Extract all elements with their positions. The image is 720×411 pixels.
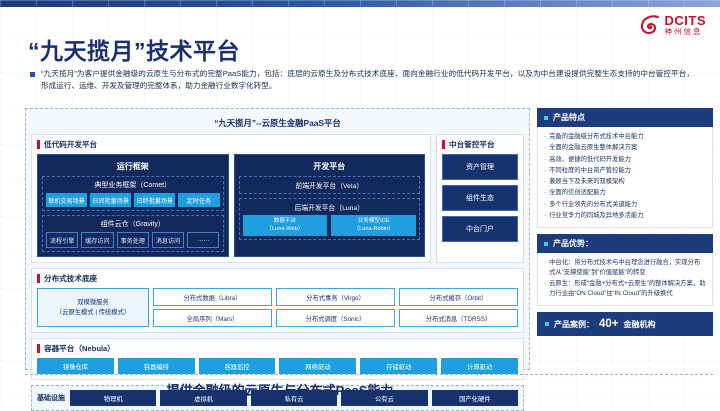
base-item[interactable]: 分布式消息（TDRSS） (399, 309, 518, 327)
dot-icon: · (544, 188, 546, 198)
feature-item: ·兼顾当下及未来的双模架构 (544, 177, 706, 187)
runtime-title: 运行框架 (42, 159, 224, 176)
features-body: ·完备的金融级分布式技术中台能力 ·全面的金融云原生整体解决方案 ·高效、便捷的… (537, 127, 713, 228)
mgmt-item[interactable]: 组件生态 (442, 185, 518, 211)
footer-text: 提供金融级的云原生与分布式PaaS能力 (0, 380, 560, 399)
intro-paragraph: “九天揽月”为客户提供金融级的云原生与分布式的完整PaaS能力，包括：底层的云原… (30, 68, 694, 92)
diagram-title: “九天揽月”--云原生金融PaaS平台 (31, 114, 524, 134)
lowcode-section-title: 低代码开发平台 (44, 139, 97, 150)
container-section-head: 容器平台（Nebula） (37, 343, 518, 354)
right-column: 产品特点 ·完备的金融级分布式技术中台能力 ·全面的金融云原生整体解决方案 ·高… (537, 108, 713, 336)
feature-text: 兼顾当下及未来的双模架构 (549, 177, 706, 187)
square-bullet-icon (544, 116, 548, 120)
feature-item: ·多个行业领先的分布式关键能力 (544, 200, 706, 210)
page-title: “九天揽月”技术平台 (28, 32, 240, 66)
comet-title: 典型业务框架（Comet） (46, 180, 220, 193)
dot-icon: · (544, 279, 546, 299)
base-item[interactable]: 分布式事务（Virgo） (276, 288, 395, 306)
feature-text: 不同粒度的中台资产管控能力 (549, 166, 706, 176)
container-item[interactable]: 容器编排 (118, 358, 195, 374)
brand-logo: DCITS 神州信息 (639, 14, 707, 36)
gravity-subgroup: 组件云仓（Gravity） 流程引擎 缓存访问 事务处理 消息访问 …… (42, 215, 224, 252)
gravity-title: 组件云仓（Gravity） (46, 219, 220, 232)
container-item[interactable]: 网络驱动 (279, 358, 356, 374)
section-marker-icon (37, 344, 40, 353)
square-bullet-icon (544, 242, 548, 246)
dot-icon: · (544, 143, 546, 153)
comet-subgroup: 典型业务框架（Comet） 联机交易场景 日间批量场景 日终批量场景 定时任务 (42, 176, 224, 211)
base-item[interactable]: 全局序列（Mars） (153, 309, 272, 327)
brand-name: DCITS (665, 14, 707, 27)
square-bullet-icon (545, 322, 549, 326)
feature-item: ·高效、便捷的低代码开发能力 (544, 155, 706, 165)
dual-mode-microservice[interactable]: 双模微服务 （云原生模式 | 传统模式） (37, 288, 149, 327)
features-title: 产品特点 (553, 112, 585, 123)
case-label: 产品案例： (554, 319, 594, 330)
section-marker-icon (442, 140, 445, 149)
lowcode-platform-panel: 低代码开发平台 运行框架 典型业务框架（Comet） 联机交易场景 日间批量场景… (31, 134, 431, 263)
feature-item: ·全面的信创适配能力 (544, 188, 706, 198)
lowcode-section-head: 低代码开发平台 (37, 139, 425, 150)
comet-item[interactable]: 日终批量场景 (134, 193, 175, 207)
dot-icon: · (544, 200, 546, 210)
base-column: 分布式缓存（Orbit） 分布式消息（TDRSS） (399, 288, 518, 327)
container-item[interactable]: 镜像仓库 (37, 358, 114, 374)
gravity-item[interactable]: 流程引擎 (46, 232, 78, 248)
slide-root: DCITS 神州信息 “九天揽月”技术平台 “九天揽月”为客户提供金融级的云原生… (0, 0, 720, 405)
advantage-text: 云原生：形成“金融+分布式+云原生”的整体解决方案，助力行业由“ON Cloud… (549, 279, 706, 299)
mgmt-item[interactable]: 中台门户 (442, 216, 518, 242)
feature-text: 高效、便捷的低代码开发能力 (549, 155, 706, 165)
feature-item: ·不同粒度的中台资产管控能力 (544, 166, 706, 176)
feature-text: 多个行业领先的分布式关键能力 (549, 200, 706, 210)
section-marker-icon (37, 274, 40, 283)
dev-title: 开发平台 (239, 159, 421, 176)
gravity-item[interactable]: 消息访问 (152, 232, 184, 248)
dot-icon: · (544, 155, 546, 165)
distributed-base-panel: 分布式技术底座 双模微服务 （云原生模式 | 传统模式） 分布式数据（Libra… (31, 268, 524, 333)
comet-item[interactable]: 联机交易场景 (46, 193, 87, 207)
base-section-head: 分布式技术底座 (37, 273, 518, 284)
mgmt-item[interactable]: 资产管理 (442, 154, 518, 180)
backend-item[interactable]: 业务模型IDE （Luna-Robin） (331, 215, 416, 236)
feature-item: ·行业竞争力的同城及异地多活能力 (544, 211, 706, 221)
container-item[interactable]: 计算驱动 (441, 358, 518, 374)
container-section-title: 容器平台（Nebula） (44, 343, 115, 354)
feature-text: 完备的金融级分布式技术中台能力 (549, 132, 706, 142)
square-bullet-icon (30, 72, 35, 77)
dev-platform-group: 开发平台 前端开发平台（Vela） 后端开发平台（Luna） 数据平台 （Lun… (234, 154, 426, 257)
feature-text: 全面的金融云原生整体解决方案 (549, 143, 706, 153)
feature-item: ·完备的金融级分布式技术中台能力 (544, 132, 706, 142)
feature-item: ·全面的金融云原生整体解决方案 (544, 143, 706, 153)
brand-sub: 神州信息 (665, 28, 707, 36)
gravity-item[interactable]: 事务处理 (117, 232, 149, 248)
feature-text: 全面的信创适配能力 (549, 188, 706, 198)
dot-icon: · (544, 166, 546, 176)
advantages-title: 产品优势： (553, 238, 593, 249)
dcits-swirl-icon (639, 14, 661, 36)
case-panel: 产品案例： 40+ 金融机构 (537, 312, 713, 336)
mgmt-section-head: 中台管控平台 (442, 139, 518, 150)
comet-item[interactable]: 定时任务 (178, 193, 219, 207)
backend-item[interactable]: 数据平台 （Luna-Web） (243, 215, 328, 236)
features-panel: 产品特点 ·完备的金融级分布式技术中台能力 ·全面的金融云原生整体解决方案 ·高… (537, 108, 713, 228)
footer-divider (25, 374, 713, 375)
base-item[interactable]: 分布式调度（Sonic） (276, 309, 395, 327)
backend-platform-box: 后端开发平台（Luna） 数据平台 （Luna-Web） 业务模型IDE （Lu… (239, 198, 421, 240)
advantage-item: ·中台化：将分布式技术与中台理念进行融合，实现分布式从“支撑使能”到“价值赋能”… (544, 258, 706, 278)
top-accent-bar (0, 0, 720, 7)
mgmt-platform-panel: 中台管控平台 资产管理 组件生态 中台门户 (436, 134, 524, 263)
backend-platform-label: 后端开发平台（Luna） (295, 205, 365, 212)
intro-text: “九天揽月”为客户提供金融级的云原生与分布式的完整PaaS能力，包括：底层的云原… (41, 68, 694, 92)
mgmt-section-title: 中台管控平台 (449, 139, 495, 150)
base-section-title: 分布式技术底座 (44, 273, 97, 284)
advantages-body: ·中台化：将分布式技术与中台理念进行融合，实现分布式从“支撑使能”到“价值赋能”… (537, 253, 713, 306)
base-item[interactable]: 分布式数据（Libra） (153, 288, 272, 306)
gravity-item[interactable]: 缓存访问 (81, 232, 113, 248)
dot-icon: · (544, 211, 546, 221)
runtime-framework-group: 运行框架 典型业务框架（Comet） 联机交易场景 日间批量场景 日终批量场景 … (37, 154, 229, 257)
advantage-item: ·云原生：形成“金融+分布式+云原生”的整体解决方案，助力行业由“ON Clou… (544, 279, 706, 299)
dot-icon: · (544, 258, 546, 278)
feature-text: 行业竞争力的同城及异地多活能力 (549, 211, 706, 221)
case-unit: 金融机构 (624, 319, 656, 330)
container-item[interactable]: 容器监控 (199, 358, 276, 374)
comet-item[interactable]: 日间批量场景 (90, 193, 131, 207)
dot-icon: · (544, 177, 546, 187)
base-column: 分布式数据（Libra） 全局序列（Mars） (153, 288, 272, 327)
base-item[interactable]: 分布式缓存（Orbit） (399, 288, 518, 306)
dot-icon: · (544, 132, 546, 142)
gravity-item[interactable]: …… (187, 232, 219, 248)
architecture-diagram: “九天揽月”--云原生金融PaaS平台 低代码开发平台 运行框架 典型业务框架（… (25, 108, 530, 370)
frontend-platform[interactable]: 前端开发平台（Vela） (239, 176, 421, 194)
features-header: 产品特点 (537, 108, 713, 127)
container-item[interactable]: 存储驱动 (360, 358, 437, 374)
section-marker-icon (37, 140, 40, 149)
advantages-panel: 产品优势： ·中台化：将分布式技术与中台理念进行融合，实现分布式从“支撑使能”到… (537, 234, 713, 306)
advantage-text: 中台化：将分布式技术与中台理念进行融合，实现分布式从“支撑使能”到“价值赋能”的… (549, 258, 706, 278)
advantages-header: 产品优势： (537, 234, 713, 253)
case-number: 40+ (599, 318, 619, 330)
base-column: 分布式事务（Virgo） 分布式调度（Sonic） (276, 288, 395, 327)
